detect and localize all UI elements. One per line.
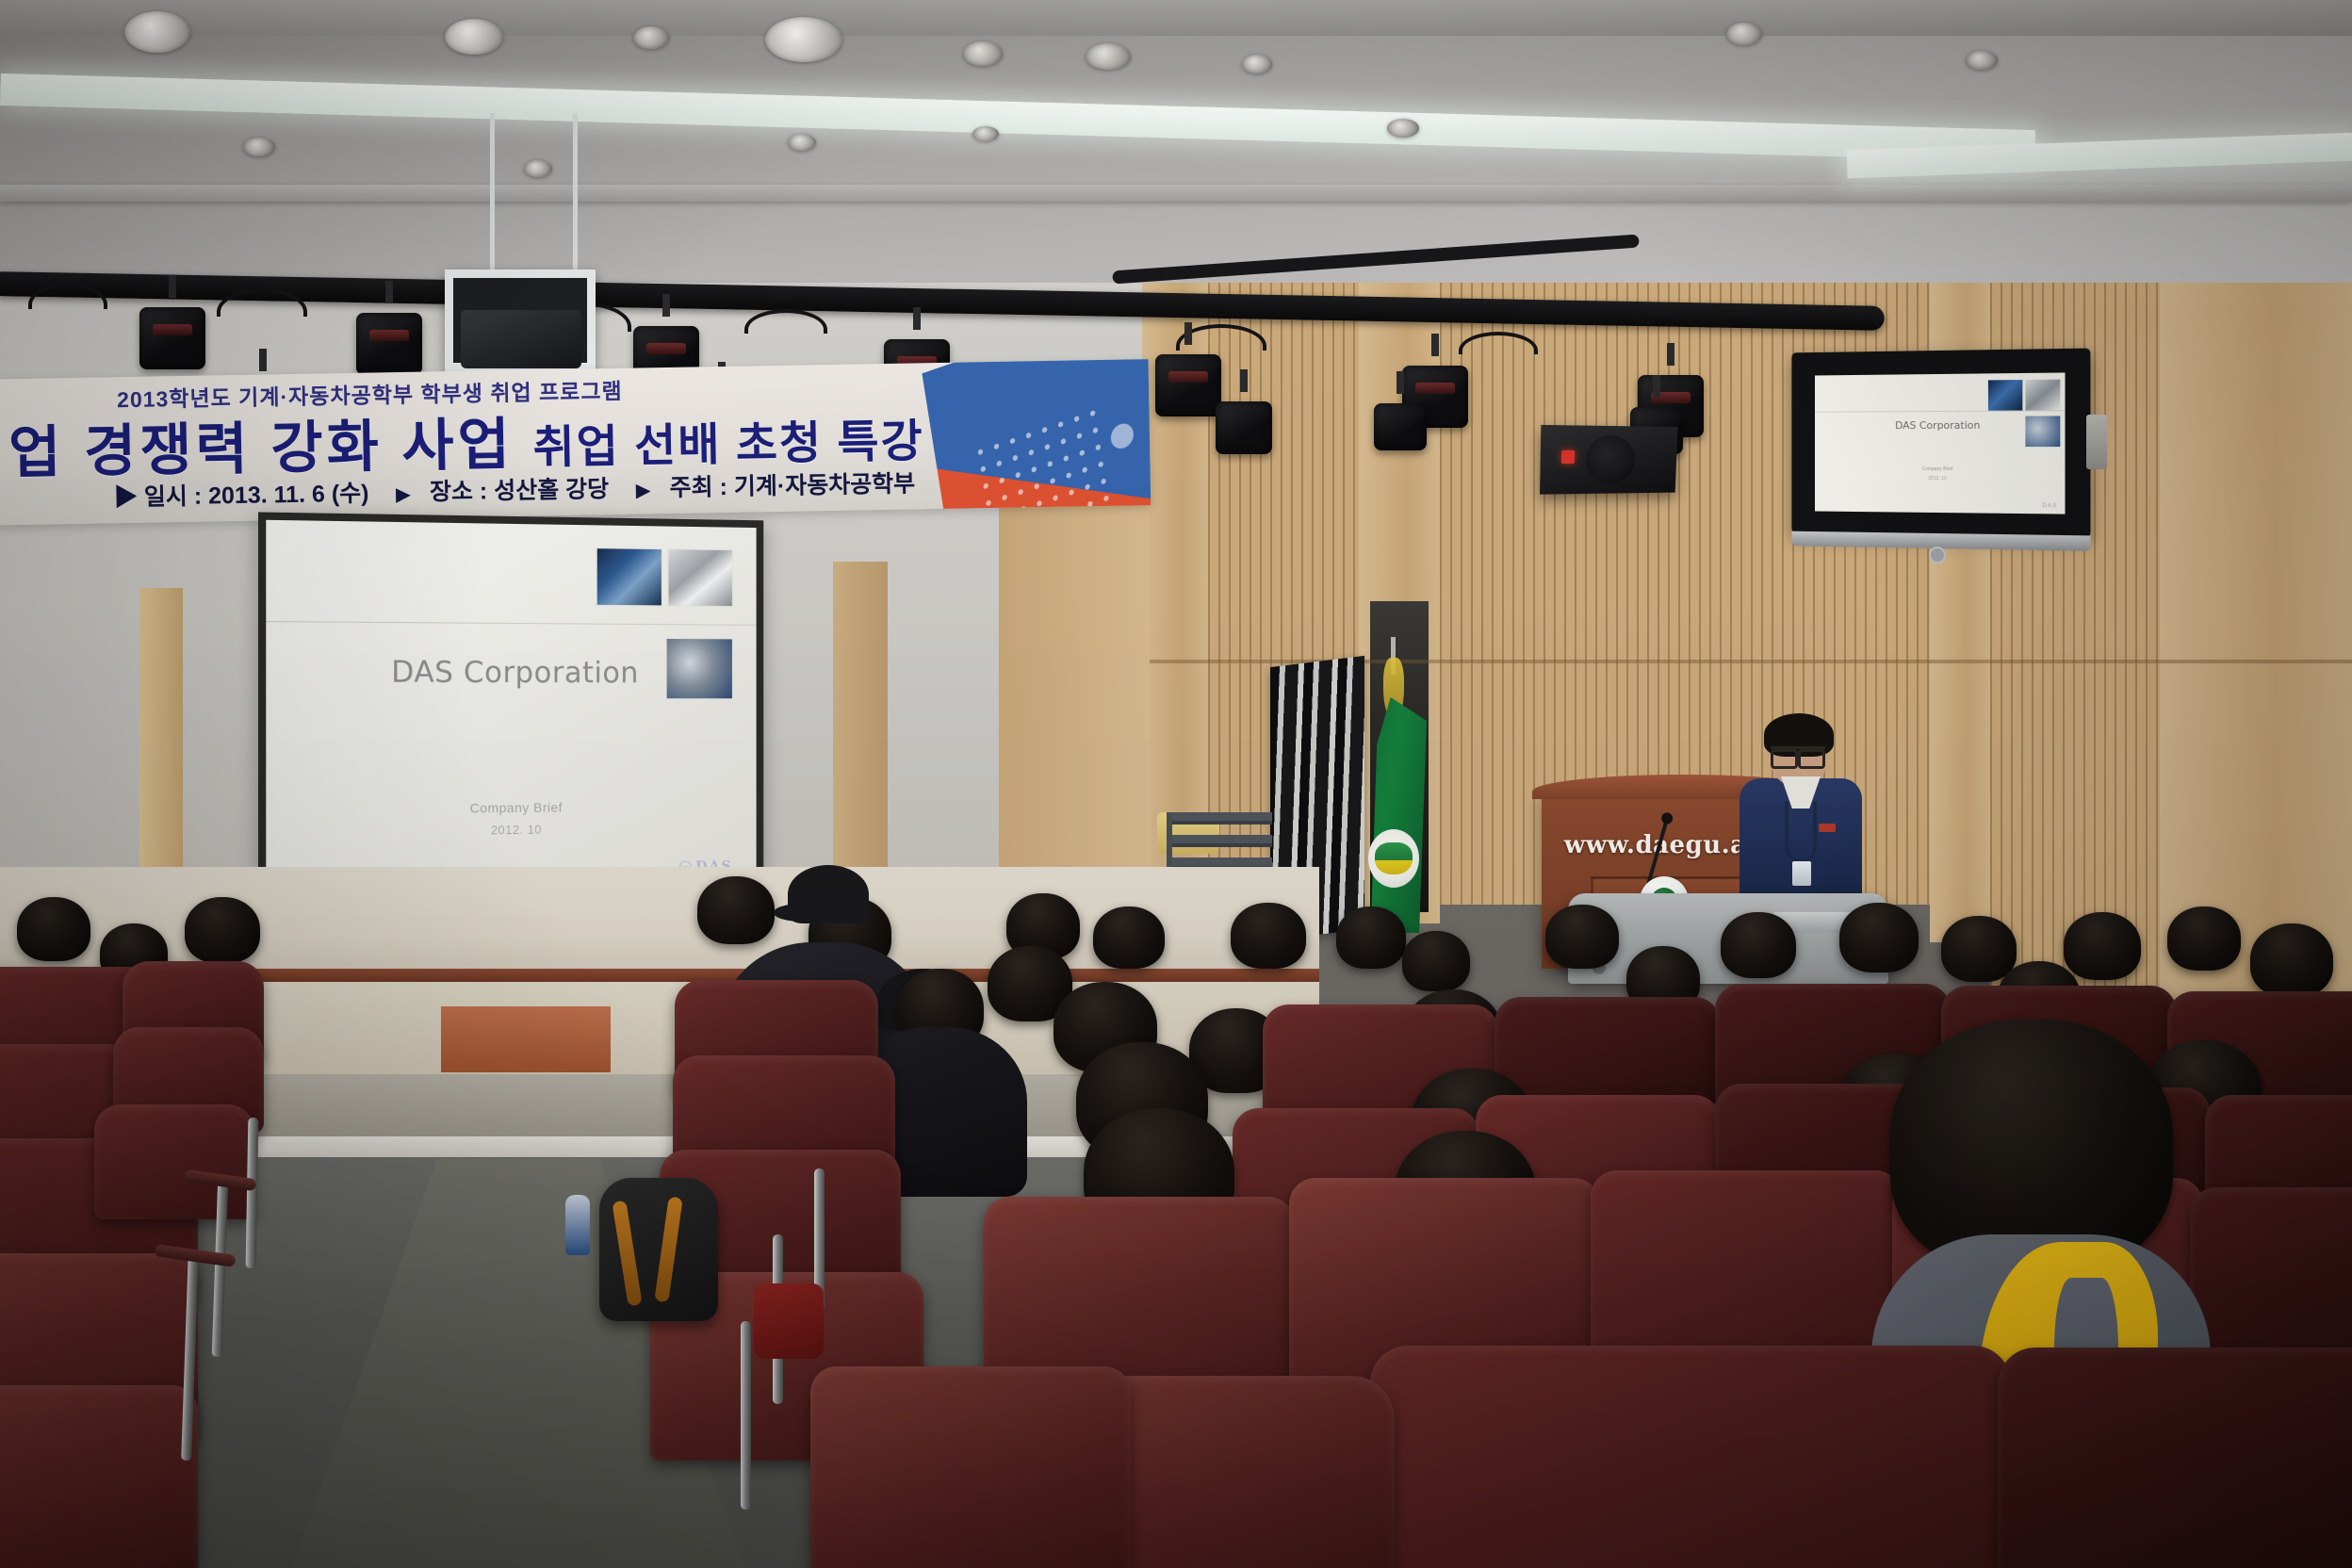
downlight [243,138,275,156]
tv-wall-mount-arm [2086,415,2107,469]
par-can-light [139,307,205,369]
ceiling-projector [445,269,596,371]
tv-screen: DAS Corporation Company Brief 2012. 10 D… [1815,372,2066,514]
projector-body [461,310,581,368]
presenter-id-badge [1792,861,1811,886]
event-banner: 2013학년도 기계·자동차공학부 학부생 취업 프로그램 취업 경쟁력 강화 … [0,359,1151,526]
downlight [524,160,552,177]
auditorium-seat[interactable] [0,1385,198,1568]
auditorium-seat[interactable] [810,1366,1131,1568]
backpack-strap [612,1200,642,1307]
banner-date-value: 2013. 11. 6 (수) [208,481,369,510]
banner-date-marker: ▶ [114,484,139,511]
tv-slide-title: DAS Corporation [1815,418,2066,432]
tv-slide-logo: DAS [2042,503,2057,509]
par-can-light [356,313,422,375]
audience-head [697,876,775,944]
presenter-glasses-icon [1771,746,1825,760]
downlight [1726,23,1762,45]
slide-subtitle: Company Brief [266,798,756,818]
tv-power-indicator-icon [1929,547,1946,563]
seat-leg [741,1321,751,1510]
audience-head [1093,906,1165,969]
slide-image-part [668,548,733,607]
presenter-lanyard [1785,801,1817,863]
audience-head [1336,906,1406,969]
presenter-jacket-logo [1819,824,1836,832]
water-bottle [565,1195,590,1255]
university-flag-emblem [1368,829,1419,888]
speaker-indicator-icon [1561,450,1575,464]
audience-head [1402,931,1470,991]
downlight [963,41,1003,66]
downlight [788,134,816,151]
tv-slide-date: 2012. 10 [1815,475,2066,482]
projector-mount-rod [573,113,578,275]
audience-head [1839,903,1919,972]
audience-head [1941,916,2017,982]
audience-head [1545,905,1619,969]
auditorium-seat[interactable] [94,1104,254,1219]
downlight [124,11,190,53]
par-can-lens [153,324,192,335]
tv-slide-image-engine [1988,380,2022,411]
projection-screen-surface: DAS Corporation Company Brief 2012. 10 D… [266,520,756,894]
downlight [633,26,669,49]
downlight [1387,119,1419,138]
tv-slide-image-part [2025,380,2060,411]
downlight [765,17,842,62]
par-can-lens [369,330,409,341]
auditorium-photo-scene: 2013학년도 기계·자동차공학부 학부생 취업 프로그램 취업 경쟁력 강화 … [0,0,2352,1568]
banner-host-label: 주최 : [669,474,727,501]
wood-edge-strip [139,588,183,888]
downlight [1086,43,1131,70]
par-can-lens [1168,371,1208,383]
slide-title: DAS Corporation [266,655,756,691]
slide-image-engine [596,547,662,606]
stage-wood-panel [441,1006,611,1072]
par-can-lens [1415,383,1455,394]
auditorium-seat-foreground[interactable] [1998,1347,2352,1568]
audience-head [2250,923,2333,997]
downlight [1966,51,1998,70]
banner-host-marker: ▶ [636,481,650,500]
audience-head [185,897,260,963]
downlight [1242,55,1272,73]
audience-head [2064,912,2141,980]
projector-mount-rod [490,113,495,275]
banner-host-value: 기계·자동차공학부 [734,470,916,499]
projection-screen: DAS Corporation Company Brief 2012. 10 D… [258,512,763,902]
banner-place-marker: ▶ [396,485,410,505]
ceiling-band [0,0,2352,36]
tv-slide-divider [1815,410,2066,412]
downlight [972,126,999,141]
par-can-lens [646,343,686,354]
par-can-light [1155,354,1221,416]
slide-divider-rule [266,621,756,626]
banner-place-value: 성산홀 강당 [494,476,609,504]
par-can-light [1216,401,1272,454]
audience-head [1231,903,1306,969]
backpack-strap [654,1197,682,1303]
ceiling-beam [0,185,2352,202]
banner-place-label: 장소 : [430,478,488,505]
par-can-light [1374,403,1427,450]
audience-cap [788,865,869,923]
backpack-on-floor [599,1178,718,1321]
red-bag-on-floor [754,1283,824,1359]
speaker-cone [1585,435,1635,484]
audience-head [17,897,90,961]
auditorium-seat-foreground[interactable] [1370,1346,2011,1568]
tv-slide-subtitle: Company Brief [1815,465,2066,472]
audience-head [2167,906,2241,971]
banner-date-label: 일시 : [144,483,203,511]
loudspeaker [1540,425,1677,495]
audience-head [1721,912,1796,978]
downlight [445,19,503,55]
slide-date: 2012. 10 [266,820,756,840]
wall-tv-monitor: DAS Corporation Company Brief 2012. 10 D… [1791,349,2090,538]
